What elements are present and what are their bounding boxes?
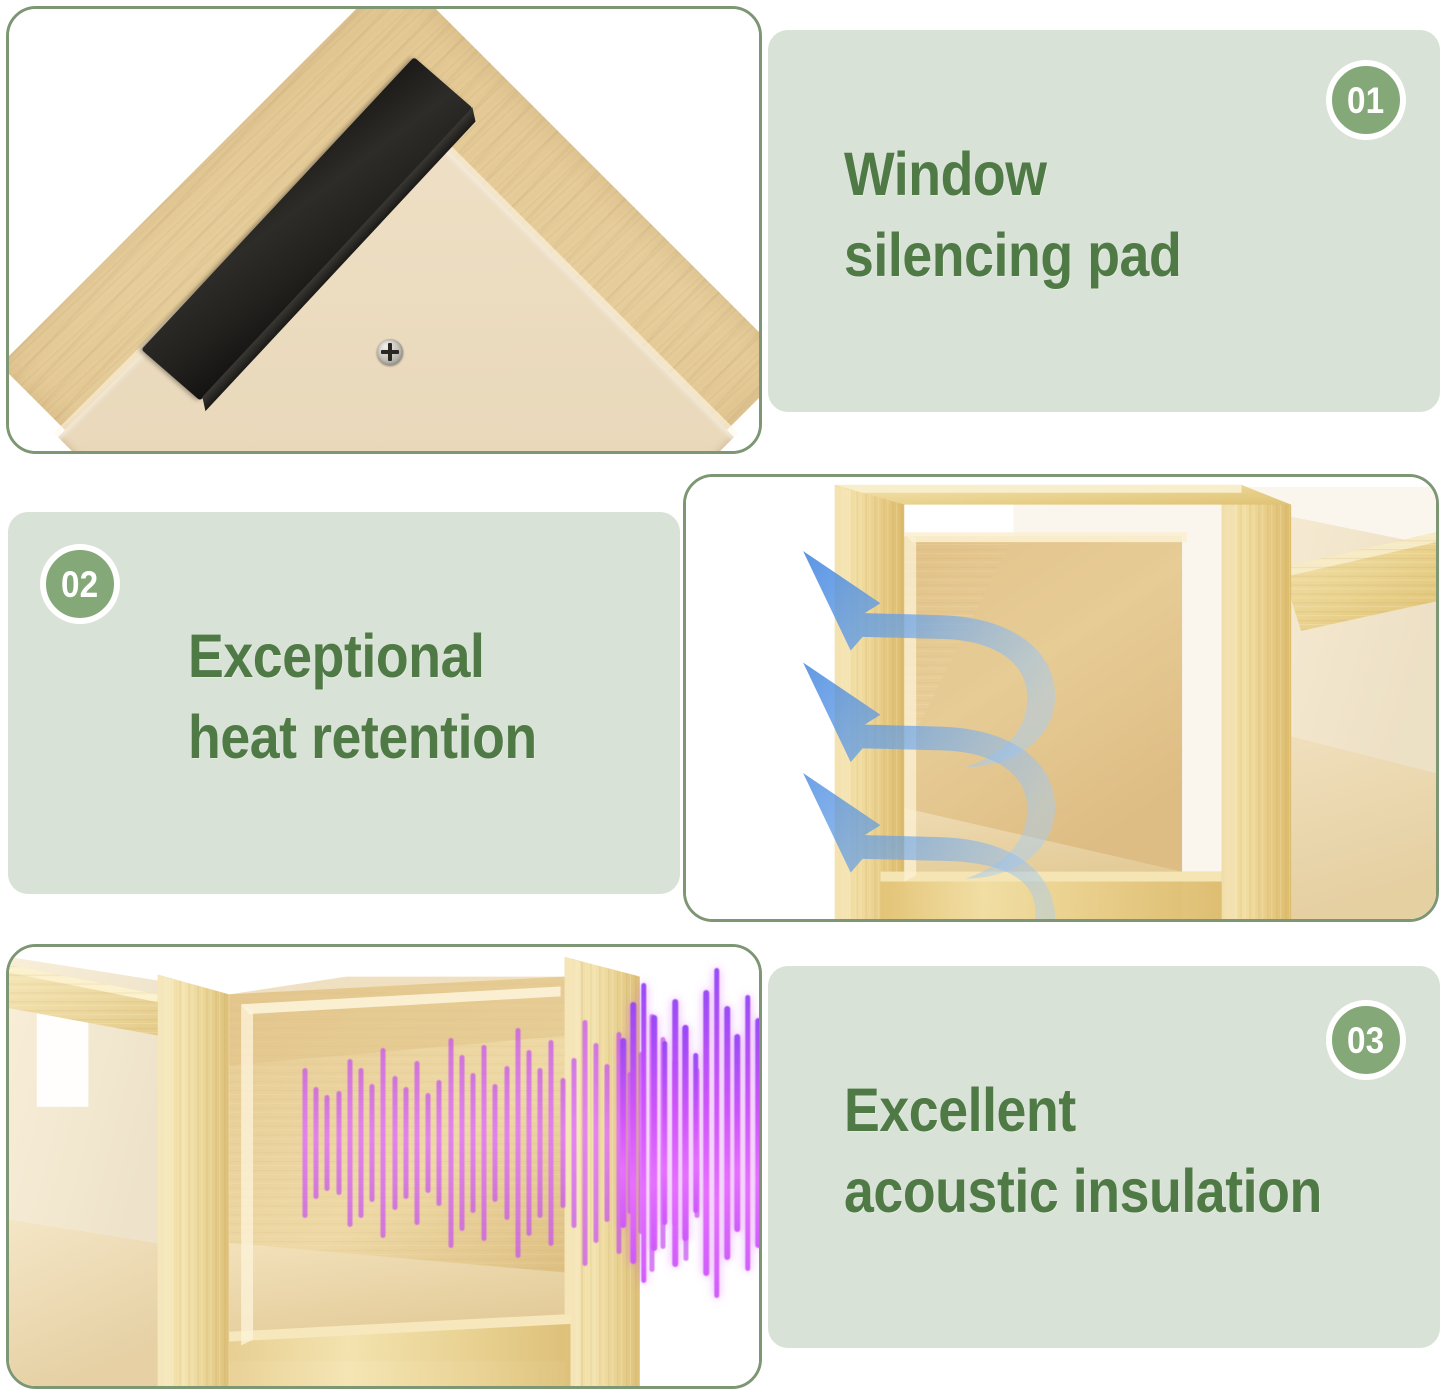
soundwave-bar (571, 1058, 576, 1228)
soundwave-bar (482, 1045, 487, 1241)
pet-house-airflow-photo (686, 477, 1436, 919)
wood-corner-panel (9, 9, 759, 451)
soundwave-bar (515, 1028, 520, 1258)
soundwave-bar (437, 1080, 442, 1206)
soundwave-bar (336, 1091, 341, 1195)
soundwave-bar (735, 1034, 741, 1232)
feature-photo-card-2 (683, 474, 1439, 922)
soundwave-bar (538, 1068, 543, 1218)
feature-number-badge-3: 03 (1326, 1000, 1406, 1080)
soundwave-bar (714, 968, 720, 1298)
soundwave-bar (549, 1040, 554, 1246)
soundwave-bar (471, 1073, 476, 1213)
soundwave-bar (662, 1041, 668, 1225)
feature-text-panel-1: 01 Window silencing pad (768, 30, 1440, 412)
feature-number-3: 03 (1347, 1022, 1384, 1059)
soundwave-bar (755, 1018, 759, 1248)
soundwave-bar (392, 1076, 397, 1210)
soundwave-bar (459, 1055, 464, 1231)
feature-number-1: 01 (1347, 82, 1384, 119)
soundwave-bar (651, 1015, 657, 1251)
product-feature-infographic: 01 Window silencing pad 02 Exceptional h… (0, 0, 1445, 1395)
feature-row-1: 01 Window silencing pad (0, 0, 1445, 460)
soundwave-bar (448, 1038, 453, 1248)
soundwave-bar (370, 1084, 375, 1202)
soundwave-bar (347, 1059, 352, 1227)
soundwave-bar (641, 983, 647, 1283)
soundwave-bar (359, 1068, 364, 1218)
pet-house-airflow-illustration (686, 477, 1436, 919)
pet-house-soundwave-photo (9, 947, 759, 1386)
feature-headline-2: Exceptional heat retention (188, 616, 537, 777)
feature-photo-card-1 (6, 6, 762, 454)
soundwave-bar (314, 1087, 319, 1199)
soundwave-bar (560, 1078, 565, 1208)
feature-number-badge-1: 01 (1326, 60, 1406, 140)
soundwave-bar (703, 990, 709, 1276)
soundwave-bar (403, 1087, 408, 1199)
soundwave-bar (594, 1043, 599, 1243)
screw-head-icon (377, 339, 403, 365)
soundwave-bar (605, 1064, 610, 1222)
feature-number-2: 02 (61, 566, 98, 603)
feature-row-3: 03 Excellent acoustic insulation (0, 938, 1445, 1395)
soundwave-bar (724, 1006, 730, 1260)
feature-number-badge-2: 02 (40, 544, 120, 624)
soundwave-bar (415, 1061, 420, 1225)
soundwave-bar (381, 1048, 386, 1238)
feature-row-2: 02 Exceptional heat retention (0, 468, 1445, 928)
feature-text-panel-3: 03 Excellent acoustic insulation (768, 966, 1440, 1348)
soundwave-bar (693, 1053, 699, 1213)
feature-headline-1: Window silencing pad (844, 134, 1181, 295)
soundwave-bar (303, 1068, 308, 1218)
soundwave-bar (631, 1002, 637, 1264)
soundwave-bar (527, 1050, 532, 1236)
feature-photo-card-3 (6, 944, 762, 1389)
soundwave-bar (672, 999, 678, 1267)
soundwave-bar (583, 1020, 588, 1266)
soundwave-bar (620, 1038, 626, 1228)
soundwave-bar (745, 995, 751, 1271)
soundwave-bar (426, 1093, 431, 1193)
soundwave-bar (493, 1084, 498, 1202)
feature-headline-3: Excellent acoustic insulation (844, 1070, 1322, 1231)
wood-corner-silencing-pad-photo (9, 9, 759, 451)
feature-text-panel-2: 02 Exceptional heat retention (8, 512, 680, 894)
soundwave-bar (325, 1095, 330, 1191)
soundwave-bar (683, 1025, 689, 1241)
soundwave-bar (504, 1066, 509, 1220)
